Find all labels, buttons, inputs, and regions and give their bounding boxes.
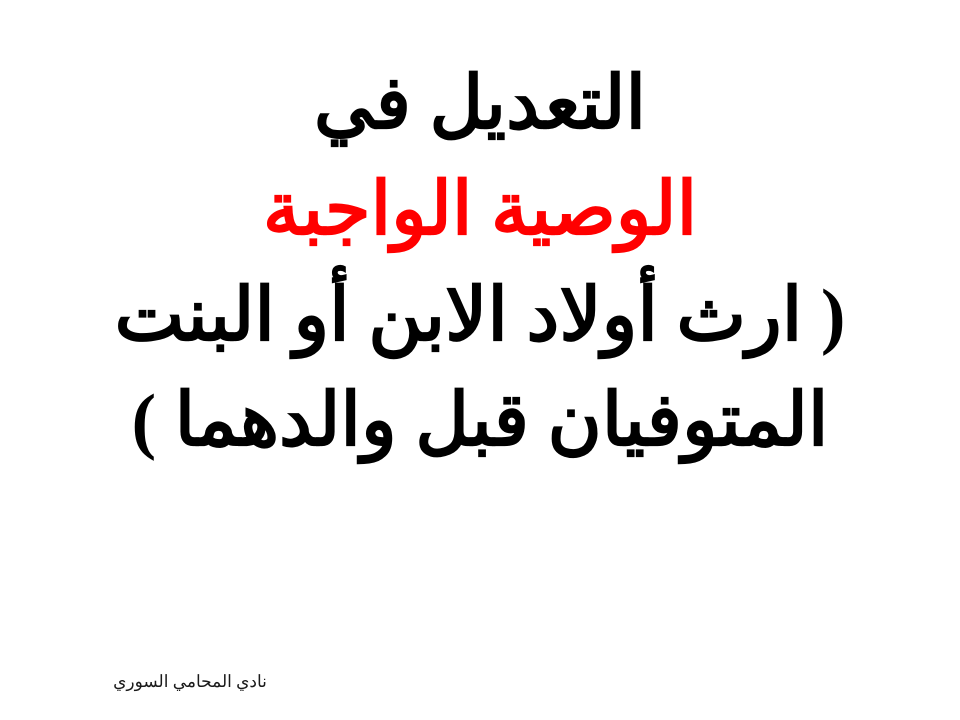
title-line-3: ( ارث أولاد الابن أو البنت: [0, 264, 960, 370]
footer-credit: نادي المحامي السوري: [95, 672, 285, 692]
slide-canvas: التعديل في الوصية الواجبة ( ارث أولاد ال…: [0, 0, 960, 720]
title-line-1: التعديل في: [0, 52, 960, 158]
title-line-2-highlight: الوصية الواجبة: [0, 158, 960, 264]
title-line-4: المتوفيان قبل والدهما ): [0, 369, 960, 475]
slide-title-block: التعديل في الوصية الواجبة ( ارث أولاد ال…: [0, 52, 960, 475]
